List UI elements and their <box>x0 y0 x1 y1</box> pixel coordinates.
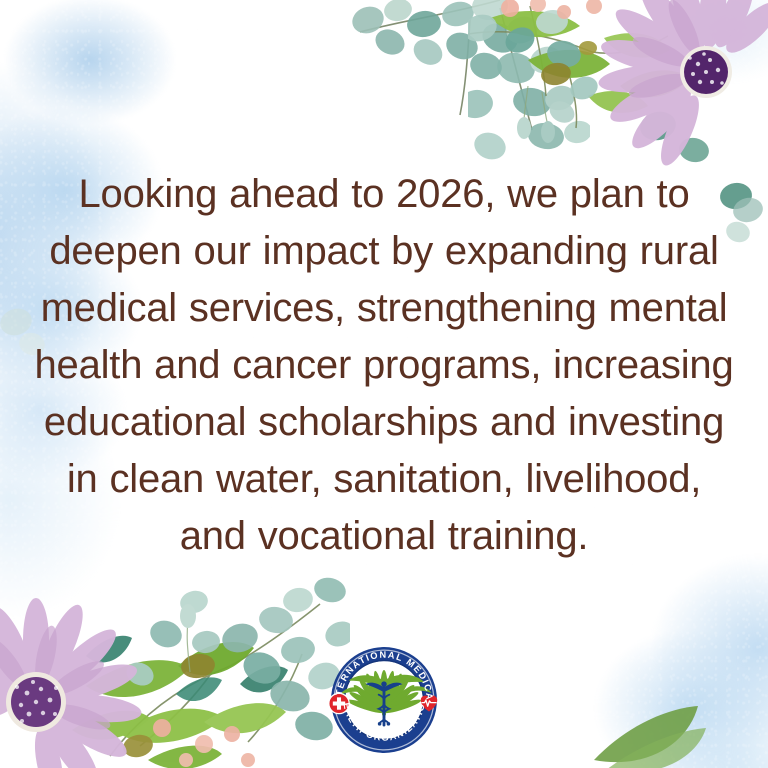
purple-daisy-bottom-left <box>0 546 350 768</box>
green-leaf-bottom-right <box>588 658 748 768</box>
watercolor-wash-top-right <box>608 0 768 110</box>
organization-logo[interactable]: INTERNATIONAL MEDICAL HEALTH ORGANIZATIO… <box>316 640 452 760</box>
page-message: Looking ahead to 2026, we plan to deepen… <box>34 166 734 565</box>
eucalyptus-branch-top-center <box>350 0 590 160</box>
poster-canvas: Looking ahead to 2026, we plan to deepen… <box>0 0 768 768</box>
